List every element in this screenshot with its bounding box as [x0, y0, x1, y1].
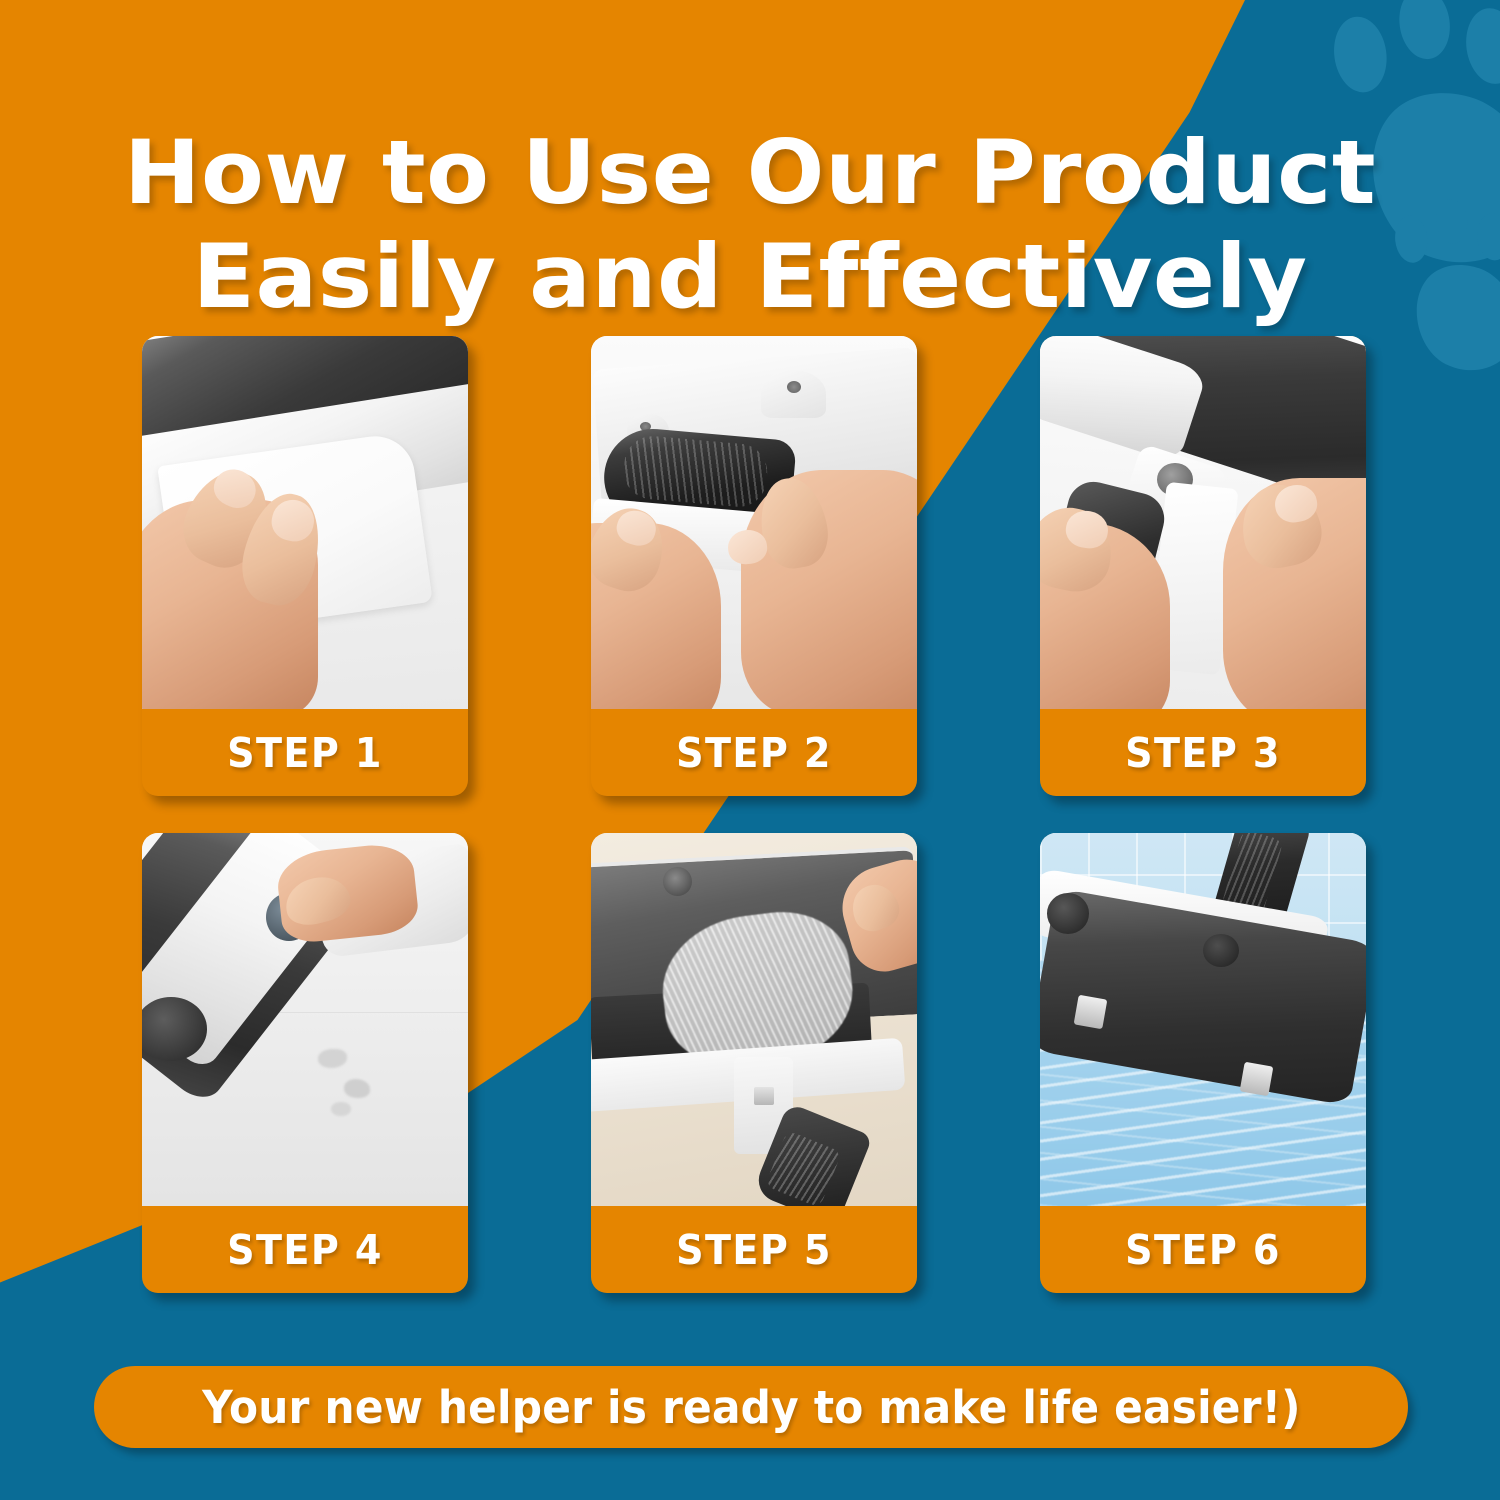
- step-card-6[interactable]: STEP 6: [1040, 833, 1366, 1293]
- step-label-2: STEP 2: [602, 709, 905, 796]
- steps-grid: STEP 1: [142, 336, 1367, 1293]
- step-photo-6: [1040, 833, 1366, 1206]
- title-line-1: How to Use Our Product: [0, 121, 1500, 225]
- step-card-1[interactable]: STEP 1: [142, 336, 468, 796]
- poster-root: How to Use Our Product Easily and Effect…: [0, 0, 1500, 1500]
- step-card-5[interactable]: STEP 5: [591, 833, 917, 1293]
- step-photo-3: [1040, 336, 1366, 709]
- footer-banner: Your new helper is ready to make life ea…: [94, 1366, 1408, 1448]
- step-label-4: STEP 4: [153, 1206, 456, 1293]
- page-title: How to Use Our Product Easily and Effect…: [0, 121, 1500, 329]
- step-photo-5: [591, 833, 917, 1206]
- step-card-4[interactable]: STEP 4: [142, 833, 468, 1293]
- step-label-1: STEP 1: [153, 709, 456, 796]
- step-card-2[interactable]: STEP 2: [591, 336, 917, 796]
- step-photo-2: [591, 336, 917, 709]
- step-photo-1: [142, 336, 468, 709]
- step-photo-4: [142, 833, 468, 1206]
- step-label-3: STEP 3: [1051, 709, 1354, 796]
- title-line-2: Easily and Effectively: [0, 225, 1500, 329]
- step-label-6: STEP 6: [1051, 1206, 1354, 1293]
- step-label-5: STEP 5: [602, 1206, 905, 1293]
- footer-banner-text: Your new helper is ready to make life ea…: [202, 1381, 1301, 1434]
- step-card-3[interactable]: STEP 3: [1040, 336, 1366, 796]
